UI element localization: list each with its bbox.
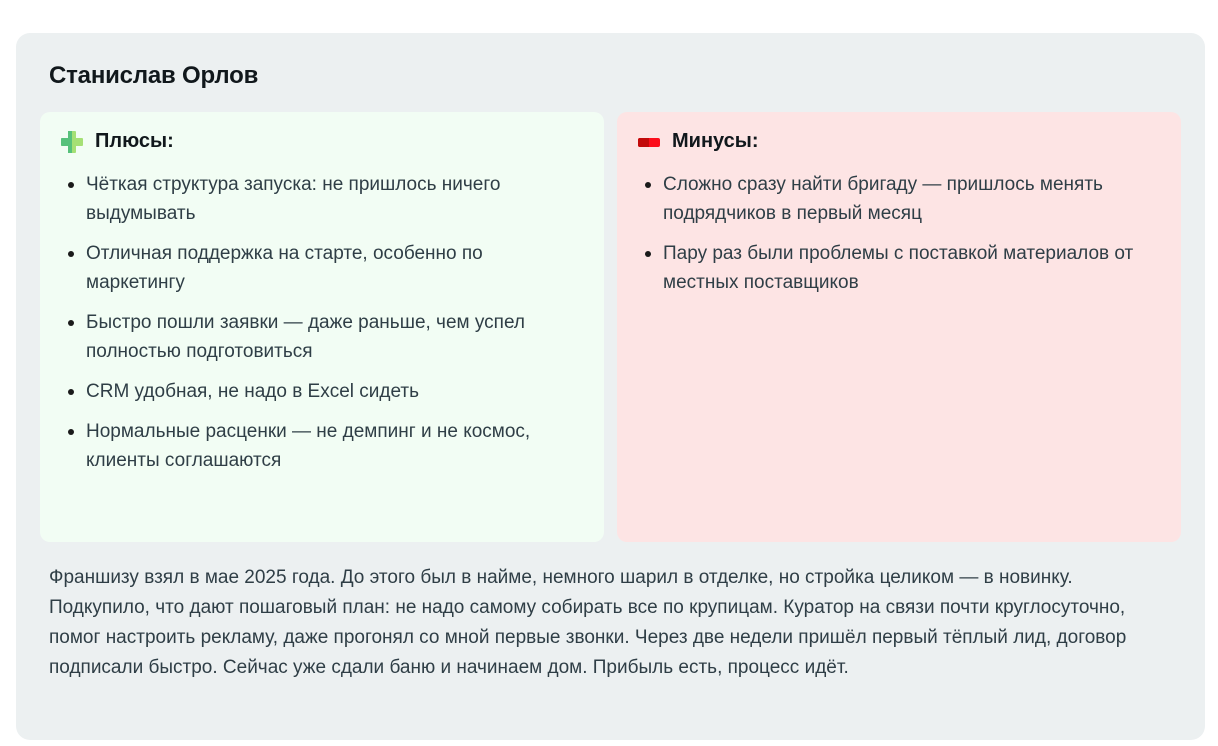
reviewer-name: Станислав Орлов [49, 62, 1181, 91]
cons-heading-row: Минусы: [637, 128, 1163, 156]
list-item: Сложно сразу найти бригаду — пришлось ме… [635, 170, 1143, 228]
pros-cons-columns: Плюсы: Чёткая структура запуска: не приш… [40, 112, 1181, 542]
plus-icon [60, 130, 84, 154]
review-card: Станислав Орлов Плюсы: Чёткая структура … [16, 33, 1205, 740]
minus-icon [637, 130, 661, 154]
pros-heading-label: Плюсы: [95, 130, 174, 153]
list-item: Пару раз были проблемы с поставкой матер… [635, 239, 1143, 297]
list-item: Чёткая структура запуска: не пришлось ни… [58, 170, 586, 228]
pros-list: Чёткая структура запуска: не пришлось ни… [58, 170, 586, 475]
list-item: Нормальные расценки — не демпинг и не ко… [58, 417, 586, 475]
pros-heading-row: Плюсы: [60, 128, 586, 156]
cons-list: Сложно сразу найти бригаду — пришлось ме… [635, 170, 1163, 297]
list-item: CRM удобная, не надо в Excel сидеть [58, 377, 586, 406]
pros-panel: Плюсы: Чёткая структура запуска: не приш… [40, 112, 604, 542]
list-item: Быстро пошли заявки — даже раньше, чем у… [58, 308, 586, 366]
list-item: Отличная поддержка на старте, особенно п… [58, 239, 586, 297]
summary-text: Франшизу взял в мае 2025 года. До этого … [49, 563, 1172, 683]
cons-panel: Минусы: Сложно сразу найти бригаду — при… [617, 112, 1181, 542]
cons-heading-label: Минусы: [672, 130, 759, 153]
